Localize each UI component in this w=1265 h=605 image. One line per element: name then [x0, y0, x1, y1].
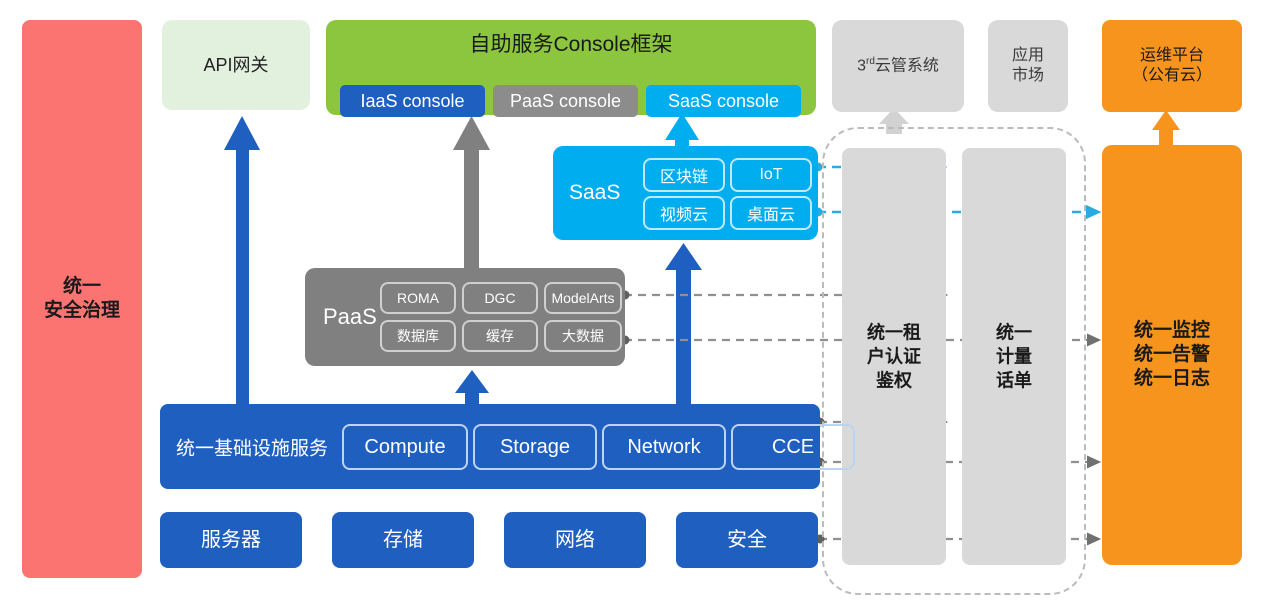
saas-console-chip[interactable]: SaaS console	[646, 85, 801, 117]
paas-chip-dgc[interactable]: DGC	[462, 282, 538, 314]
arrow-infra-to-api-gateway	[224, 116, 260, 406]
paas-chip-modelarts[interactable]: ModelArts	[544, 282, 622, 314]
paas-chip-cache[interactable]: 缓存	[462, 320, 538, 352]
unified-tenant-auth-label: 统一租 户认证 鉴权	[842, 320, 946, 393]
unified-infrastructure-service-bar: 统一基础设施服务 Compute Storage Network CCE	[160, 404, 820, 489]
iaas-console-chip[interactable]: IaaS console	[340, 85, 485, 117]
security-label-line1: 统一	[44, 275, 120, 299]
ops-main-line2: 统一告警	[1134, 343, 1210, 367]
saas-chip-desktop-cloud[interactable]: 桌面云	[730, 196, 812, 230]
infra-chip-cce[interactable]: CCE	[731, 424, 855, 470]
hardware-box-security[interactable]: 安全	[676, 512, 818, 568]
saas-chip-iot[interactable]: IoT	[730, 158, 812, 192]
ops-main-line1: 统一监控	[1134, 319, 1210, 343]
infra-chip-network[interactable]: Network	[602, 424, 726, 470]
saas-layer-label: SaaS	[569, 181, 620, 205]
ops-top-line1: 运维平台	[1132, 46, 1212, 66]
third-party-cloud-management-box: 3rd云管系统	[832, 20, 964, 112]
saas-chip-video-cloud[interactable]: 视频云	[643, 196, 725, 230]
console-framework-title: 自助服务Console框架	[326, 32, 816, 58]
hardware-box-network[interactable]: 网络	[504, 512, 646, 568]
ops-platform-public-cloud-box: 运维平台 （公有云）	[1102, 20, 1242, 112]
saas-layer-box: SaaS 区块链 IoT 视频云 桌面云	[553, 146, 818, 240]
unified-metering-billing-column: 统一 计量 话单	[962, 148, 1066, 565]
unified-tenant-auth-column: 统一租 户认证 鉴权	[842, 148, 946, 565]
api-gateway-label: API网关	[203, 54, 268, 77]
app-market-line1: 应用	[1012, 46, 1044, 66]
hardware-label-storage: 存储	[383, 528, 423, 553]
ops-top-line2: （公有云）	[1132, 66, 1212, 86]
arrow-infra-to-saas	[665, 243, 702, 410]
unified-monitoring-panel: 统一监控 统一告警 统一日志	[1102, 145, 1242, 565]
self-service-console-framework: 自助服务Console框架 IaaS console PaaS console …	[326, 20, 816, 115]
app-market-box: 应用 市场	[988, 20, 1068, 112]
ops-main-line3: 统一日志	[1134, 367, 1210, 391]
unified-infrastructure-label: 统一基础设施服务	[176, 433, 328, 460]
hardware-label-network: 网络	[555, 528, 595, 553]
paas-layer-label: PaaS	[323, 304, 377, 330]
hardware-box-server[interactable]: 服务器	[160, 512, 302, 568]
hardware-box-storage[interactable]: 存储	[332, 512, 474, 568]
saas-chip-blockchain[interactable]: 区块链	[643, 158, 725, 192]
unified-security-governance-panel: 统一 安全治理	[22, 20, 142, 578]
third-party-label: 3rd云管系统	[857, 56, 939, 76]
infra-chip-compute[interactable]: Compute	[342, 424, 468, 470]
app-market-line2: 市场	[1012, 66, 1044, 86]
unified-metering-billing-label: 统一 计量 话单	[962, 320, 1066, 393]
api-gateway-box: API网关	[162, 20, 310, 110]
paas-chip-bigdata[interactable]: 大数据	[544, 320, 622, 352]
paas-chip-database[interactable]: 数据库	[380, 320, 456, 352]
paas-chip-roma[interactable]: ROMA	[380, 282, 456, 314]
hardware-label-server: 服务器	[201, 528, 261, 553]
arrow-ops-main-to-ops-top	[1152, 110, 1180, 146]
paas-console-chip[interactable]: PaaS console	[493, 85, 638, 117]
security-label-line2: 安全治理	[44, 299, 120, 323]
architecture-diagram: 统一 安全治理 API网关 自助服务Console框架 IaaS console…	[0, 0, 1265, 605]
hardware-label-security: 安全	[727, 528, 767, 553]
paas-layer-box: PaaS ROMA DGC ModelArts 数据库 缓存 大数据	[305, 268, 625, 366]
arrow-paas-to-console	[453, 116, 490, 268]
infra-chip-storage[interactable]: Storage	[473, 424, 597, 470]
